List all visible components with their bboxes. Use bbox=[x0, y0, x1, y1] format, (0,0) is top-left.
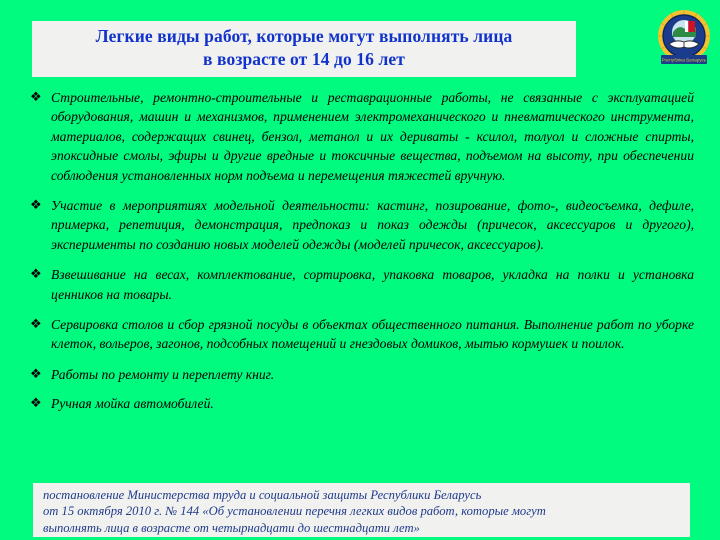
slide-root: Легкие виды работ, которые могут выполня… bbox=[0, 0, 720, 540]
list-item-text: Сервировка столов и сбор грязной посуды … bbox=[51, 315, 694, 354]
source-line-1: постановление Министерства труда и социа… bbox=[43, 487, 682, 503]
title-box: Легкие виды работ, которые могут выполня… bbox=[32, 21, 576, 77]
diamond-bullet-icon: ❖ bbox=[30, 315, 51, 334]
list-item: ❖ Сервировка столов и сбор грязной посуд… bbox=[30, 315, 694, 354]
list-item: ❖ Ручная мойка автомобилей. bbox=[30, 394, 694, 413]
page-title-line-1: Легкие виды работ, которые могут выполня… bbox=[96, 25, 513, 48]
work-types-list: ❖ Строительные, ремонтно-строительные и … bbox=[30, 88, 694, 424]
list-item-text: Участие в мероприятиях модельной деятель… bbox=[51, 196, 694, 254]
list-item-text: Ручная мойка автомобилей. bbox=[51, 394, 694, 413]
diamond-bullet-icon: ❖ bbox=[30, 394, 51, 413]
list-item: ❖ Взвешивание на весах, комплектование, … bbox=[30, 265, 694, 304]
source-line-3: выполнять лица в возрасте от четырнадцат… bbox=[43, 520, 682, 536]
list-item: ❖ Работы по ремонту и переплету книг. bbox=[30, 365, 694, 384]
list-item: ❖ Участие в мероприятиях модельной деяте… bbox=[30, 196, 694, 254]
source-reference-box: постановление Министерства труда и социа… bbox=[33, 483, 690, 537]
list-item-text: Работы по ремонту и переплету книг. bbox=[51, 365, 694, 384]
page-title-line-2: в возрасте от 14 до 16 лет bbox=[203, 48, 405, 71]
diamond-bullet-icon: ❖ bbox=[30, 265, 51, 284]
emblem-caption: Рэспубліка Беларусь bbox=[662, 58, 707, 63]
source-line-2: от 15 октября 2010 г. № 144 «Об установл… bbox=[43, 503, 682, 519]
diamond-bullet-icon: ❖ bbox=[30, 196, 51, 215]
diamond-bullet-icon: ❖ bbox=[30, 88, 51, 107]
list-item-text: Строительные, ремонтно-строительные и ре… bbox=[51, 88, 694, 185]
list-item-text: Взвешивание на весах, комплектование, со… bbox=[51, 265, 694, 304]
list-item: ❖ Строительные, ремонтно-строительные и … bbox=[30, 88, 694, 185]
emblem-republic-of-belarus-icon: Рэспубліка Беларусь bbox=[655, 8, 713, 70]
diamond-bullet-icon: ❖ bbox=[30, 365, 51, 384]
